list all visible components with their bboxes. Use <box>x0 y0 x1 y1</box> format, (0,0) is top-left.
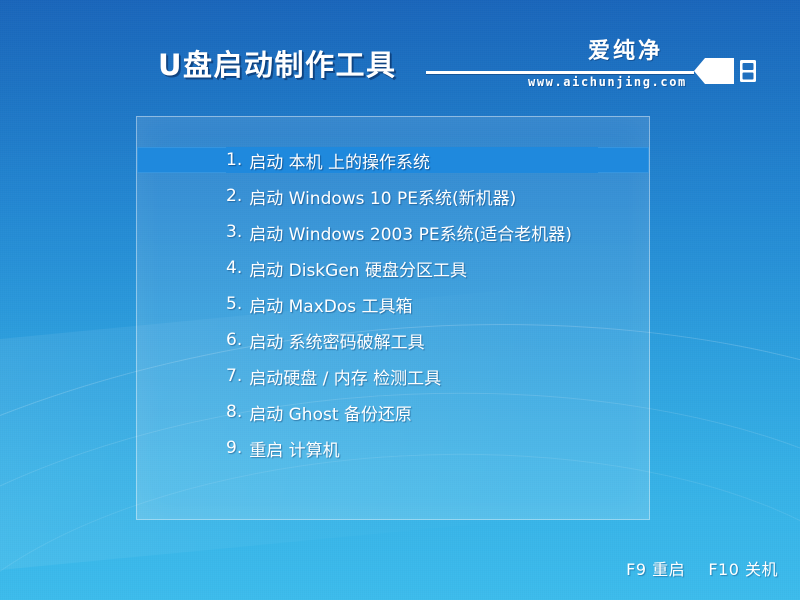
menu-item-2[interactable]: 2. 启动 Windows 10 PE系统(新机器) <box>137 183 649 209</box>
menu-item-7-label: 启动硬盘 / 内存 检测工具 <box>249 364 441 389</box>
hotkey-reboot[interactable]: F9 重启 <box>626 560 685 579</box>
boot-menu-list: 1. 启动 本机 上的操作系统 2. 启动 Windows 10 PE系统(新机… <box>137 117 649 471</box>
menu-item-4[interactable]: 4. 启动 DiskGen 硬盘分区工具 <box>137 255 649 281</box>
menu-item-2-index: 2. <box>226 186 242 206</box>
menu-item-9[interactable]: 9. 重启 计算机 <box>137 435 649 461</box>
menu-item-8-label: 启动 Ghost 备份还原 <box>249 400 412 425</box>
menu-item-8[interactable]: 8. 启动 Ghost 备份还原 <box>137 399 649 425</box>
menu-item-6-index: 6. <box>226 330 242 350</box>
menu-item-1-content: 1. 启动 本机 上的操作系统 <box>226 148 430 173</box>
page-title: U盘启动制作工具 <box>158 42 397 84</box>
menu-item-8-index: 8. <box>226 402 242 422</box>
menu-item-9-content: 9. 重启 计算机 <box>226 436 340 461</box>
boot-menu-screen: U盘启动制作工具 爱纯净 www.aichunjing.com 1. 启动 <box>0 0 800 600</box>
menu-item-1[interactable]: 1. 启动 本机 上的操作系统 <box>137 147 649 173</box>
menu-item-5-content: 5. 启动 MaxDos 工具箱 <box>226 292 413 317</box>
menu-item-7[interactable]: 7. 启动硬盘 / 内存 检测工具 <box>137 363 649 389</box>
brand-website-url: www.aichunjing.com <box>528 75 687 89</box>
menu-item-7-index: 7. <box>226 366 242 386</box>
menu-item-2-label: 启动 Windows 10 PE系统(新机器) <box>249 184 516 209</box>
menu-item-4-content: 4. 启动 DiskGen 硬盘分区工具 <box>226 256 467 281</box>
menu-item-8-content: 8. 启动 Ghost 备份还原 <box>226 400 412 425</box>
menu-item-4-index: 4. <box>226 258 242 278</box>
menu-item-3-index: 3. <box>226 222 242 242</box>
menu-item-4-label: 启动 DiskGen 硬盘分区工具 <box>249 256 467 281</box>
brand-logo: 爱纯净 www.aichunjing.com <box>520 33 770 101</box>
menu-item-6-content: 6. 启动 系统密码破解工具 <box>226 328 425 353</box>
menu-item-1-index: 1. <box>226 150 242 170</box>
footer-hotkeys: F9 重启 F10 关机 <box>626 556 778 580</box>
brand-name-cn: 爱纯净 <box>588 33 663 65</box>
menu-item-3-content: 3. 启动 Windows 2003 PE系统(适合老机器) <box>226 220 572 245</box>
usb-drive-icon <box>688 53 764 89</box>
menu-item-5-label: 启动 MaxDos 工具箱 <box>249 292 412 317</box>
menu-item-3[interactable]: 3. 启动 Windows 2003 PE系统(适合老机器) <box>137 219 649 245</box>
menu-item-3-label: 启动 Windows 2003 PE系统(适合老机器) <box>249 220 572 245</box>
menu-item-1-label: 启动 本机 上的操作系统 <box>249 148 430 173</box>
menu-item-6[interactable]: 6. 启动 系统密码破解工具 <box>137 327 649 353</box>
menu-item-9-label: 重启 计算机 <box>249 436 339 461</box>
menu-item-5-index: 5. <box>226 294 242 314</box>
hotkey-shutdown[interactable]: F10 关机 <box>708 560 778 579</box>
menu-item-2-content: 2. 启动 Windows 10 PE系统(新机器) <box>226 184 516 209</box>
menu-item-7-content: 7. 启动硬盘 / 内存 检测工具 <box>226 364 441 389</box>
header-bar: U盘启动制作工具 爱纯净 www.aichunjing.com <box>0 0 800 108</box>
boot-menu-panel: 1. 启动 本机 上的操作系统 2. 启动 Windows 10 PE系统(新机… <box>136 116 650 520</box>
menu-item-6-label: 启动 系统密码破解工具 <box>249 328 424 353</box>
menu-item-9-index: 9. <box>226 438 242 458</box>
menu-item-5[interactable]: 5. 启动 MaxDos 工具箱 <box>137 291 649 317</box>
